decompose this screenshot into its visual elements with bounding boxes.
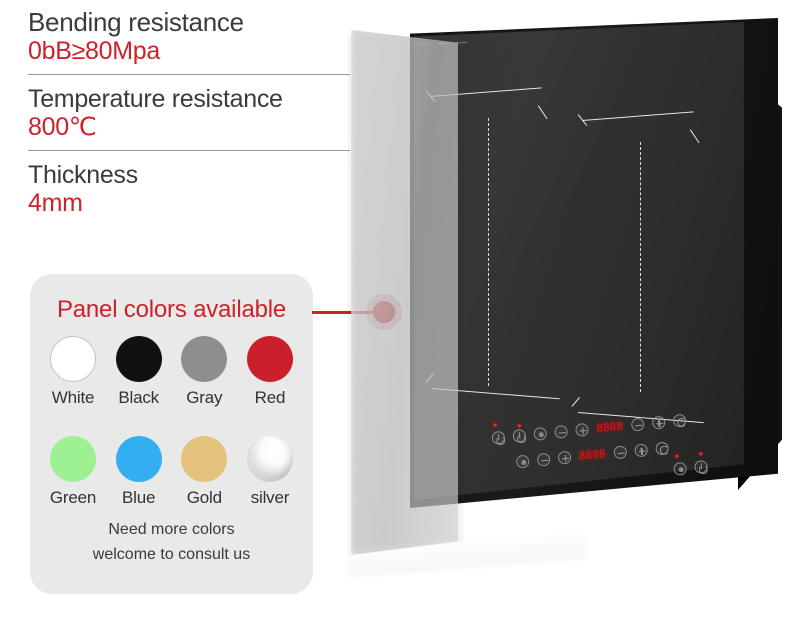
led-digits: 8888 bbox=[578, 448, 605, 461]
swatch-black[interactable]: Black bbox=[110, 336, 168, 406]
swatch-color-dot bbox=[181, 436, 227, 482]
swatch-green[interactable]: Green bbox=[44, 436, 102, 506]
zone-bracket-line bbox=[582, 111, 694, 121]
spec-label: Temperature resistance bbox=[28, 85, 350, 113]
main-power-button[interactable] bbox=[694, 460, 708, 474]
control-row-top: 8888 bbox=[491, 414, 686, 445]
swatch-color-dot bbox=[116, 336, 162, 382]
swatch-color-dot bbox=[247, 436, 293, 482]
zone-divider-dashed bbox=[488, 118, 489, 386]
power-button-2[interactable] bbox=[512, 429, 526, 443]
swatch-gold[interactable]: Gold bbox=[175, 436, 233, 506]
decrease-button-3[interactable] bbox=[537, 453, 551, 467]
increase-button-2[interactable] bbox=[651, 416, 665, 430]
swatch-label: silver bbox=[241, 489, 299, 506]
spec-value: 800℃ bbox=[28, 113, 350, 141]
spec-item-temperature: Temperature resistance 800℃ bbox=[28, 85, 350, 141]
spec-divider bbox=[28, 150, 350, 151]
power-indicator-led bbox=[494, 423, 497, 426]
decrease-button-2[interactable] bbox=[630, 418, 644, 432]
led-display-bottom: 8888 bbox=[578, 448, 605, 461]
card-footer-line-2: welcome to consult us bbox=[30, 543, 313, 568]
panel-colors-card: Panel colors available White Black Gray … bbox=[30, 274, 313, 594]
spec-label: Bending resistance bbox=[28, 8, 350, 37]
spec-value: 0bB≥80Mpa bbox=[28, 37, 350, 65]
swatch-label: Gold bbox=[175, 489, 233, 506]
swatch-label: Gray bbox=[175, 389, 233, 406]
zone-divider-dashed bbox=[640, 142, 641, 392]
led-digits: 8888 bbox=[596, 421, 623, 434]
cooking-zone-2 bbox=[578, 112, 718, 412]
increase-button-3[interactable] bbox=[557, 451, 571, 465]
swatch-color-dot bbox=[116, 436, 162, 482]
power-indicator-led bbox=[518, 424, 521, 427]
warning-triangle-icon bbox=[456, 31, 467, 43]
power-indicator-led bbox=[675, 454, 678, 457]
swatch-color-dot bbox=[247, 336, 293, 382]
increase-button[interactable] bbox=[575, 423, 589, 437]
card-footer: Need more colors welcome to consult us bbox=[30, 518, 313, 568]
control-row-right bbox=[673, 460, 708, 476]
spec-divider bbox=[28, 74, 350, 75]
swatch-label: Green bbox=[44, 489, 102, 506]
zone-bracket-corner bbox=[537, 105, 547, 119]
swatch-gray[interactable]: Gray bbox=[175, 336, 233, 406]
swatch-color-dot bbox=[181, 336, 227, 382]
control-row-bottom: 8888 bbox=[516, 441, 669, 468]
spec-label: Thickness bbox=[28, 161, 350, 189]
timer-button[interactable] bbox=[672, 414, 686, 428]
front-glass-panel-edge bbox=[348, 30, 458, 555]
lock-button[interactable] bbox=[533, 427, 547, 441]
swatch-row-2: Green Blue Gold silver bbox=[44, 436, 299, 506]
card-title: Panel colors available bbox=[30, 296, 313, 324]
swatch-label: Red bbox=[241, 389, 299, 406]
card-footer-line-1: Need more colors bbox=[30, 518, 313, 543]
spec-item-thickness: Thickness 4mm bbox=[28, 161, 350, 217]
swatch-blue[interactable]: Blue bbox=[110, 436, 168, 506]
swatch-label: White bbox=[44, 389, 102, 406]
spec-item-bending: Bending resistance 0bB≥80Mpa bbox=[28, 8, 350, 65]
swatch-white[interactable]: White bbox=[44, 336, 102, 406]
swatch-red[interactable]: Red bbox=[241, 336, 299, 406]
swatch-silver[interactable]: silver bbox=[241, 436, 299, 506]
swatch-label: Black bbox=[110, 389, 168, 406]
cooktop-product-image: 8888 8888 bbox=[330, 0, 800, 620]
zone-bracket-corner bbox=[689, 129, 699, 143]
led-display-top: 8888 bbox=[596, 421, 623, 434]
child-lock-button[interactable] bbox=[673, 462, 687, 476]
spec-value: 4mm bbox=[28, 189, 350, 217]
increase-button-4[interactable] bbox=[634, 443, 648, 457]
zone-bracket-corner bbox=[571, 397, 580, 407]
lock-button-2[interactable] bbox=[516, 455, 530, 469]
timer-button-2[interactable] bbox=[655, 441, 669, 455]
swatch-row-1: White Black Gray Red bbox=[44, 336, 299, 406]
spec-list: Bending resistance 0bB≥80Mpa Temperature… bbox=[28, 8, 350, 217]
swatch-color-dot bbox=[50, 336, 96, 382]
swatch-color-dot bbox=[50, 436, 96, 482]
decrease-button-4[interactable] bbox=[613, 445, 627, 459]
power-button[interactable] bbox=[491, 431, 505, 445]
swatch-label: Blue bbox=[110, 489, 168, 506]
power-indicator-led bbox=[699, 452, 702, 455]
decrease-button[interactable] bbox=[554, 425, 568, 439]
